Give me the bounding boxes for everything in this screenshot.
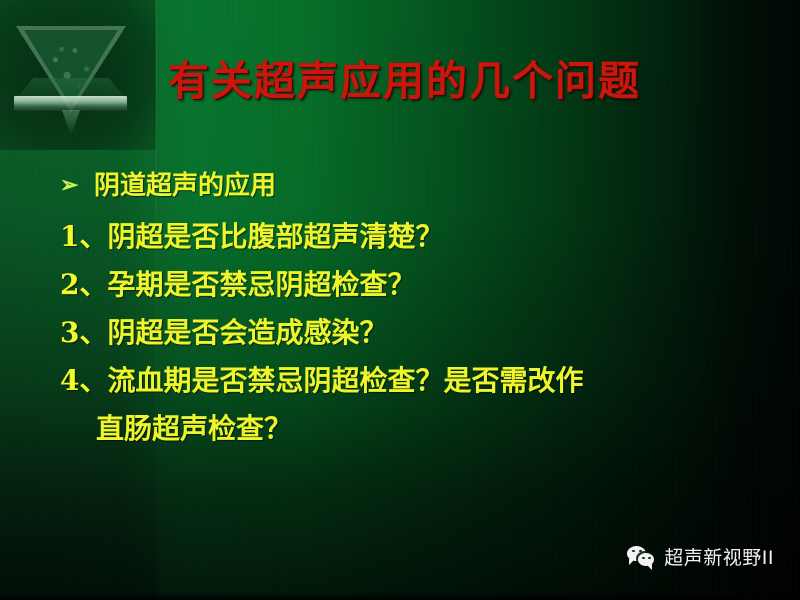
numbered-item-number: 2、 <box>60 261 107 309</box>
inverted-pyramid-emblem-icon <box>12 22 130 130</box>
watermark-label: 超声新视野II <box>664 543 774 570</box>
slide-title: 有关超声应用的几个问题 <box>168 47 768 107</box>
slide-body: ➢ 阴道超声的应用 1、 阴超是否比腹部超声清楚？ 2、 孕期是否禁忌阴超检查？… <box>60 166 780 453</box>
numbered-item: 4、 流血期是否禁忌阴超检查？是否需改作 <box>60 357 780 405</box>
arrow-bullet-icon: ➢ <box>60 165 94 205</box>
wechat-eye <box>648 557 651 560</box>
numbered-item-label: 流血期是否禁忌阴超检查？是否需改作 <box>107 357 583 405</box>
pyramid-bar <box>14 96 127 111</box>
watermark: 超声新视野II <box>627 543 774 570</box>
bullet-item: ➢ 阴道超声的应用 <box>60 166 780 207</box>
wechat-eye <box>642 557 645 560</box>
numbered-item-number: 3、 <box>60 309 107 357</box>
slide-bottom-fade <box>0 592 800 600</box>
numbered-item-label: 阴超是否比腹部超声清楚？ <box>107 213 443 261</box>
numbered-item-number: 1、 <box>60 213 107 261</box>
numbered-item-label: 阴超是否会造成感染？ <box>107 309 387 357</box>
numbered-item: 1、 阴超是否比腹部超声清楚？ <box>60 213 780 261</box>
numbered-item: 2、 孕期是否禁忌阴超检查？ <box>60 261 780 309</box>
wechat-eye <box>639 550 642 553</box>
numbered-item: 3、 阴超是否会造成感染？ <box>60 309 780 357</box>
wechat-bubble-front <box>638 553 654 566</box>
numbered-item-continuation: 直肠超声检查？ <box>60 405 780 453</box>
bullet-item-label: 阴道超声的应用 <box>94 166 276 206</box>
numbered-item-number: 4、 <box>60 357 107 405</box>
slide-canvas: 有关超声应用的几个问题 ➢ 阴道超声的应用 1、 阴超是否比腹部超声清楚？ 2、… <box>0 0 800 600</box>
numbered-item-label: 孕期是否禁忌阴超检查？ <box>107 261 415 309</box>
numbered-item-continuation-label: 直肠超声检查？ <box>96 405 292 453</box>
wechat-icon <box>627 546 655 568</box>
wechat-eye <box>632 550 635 553</box>
